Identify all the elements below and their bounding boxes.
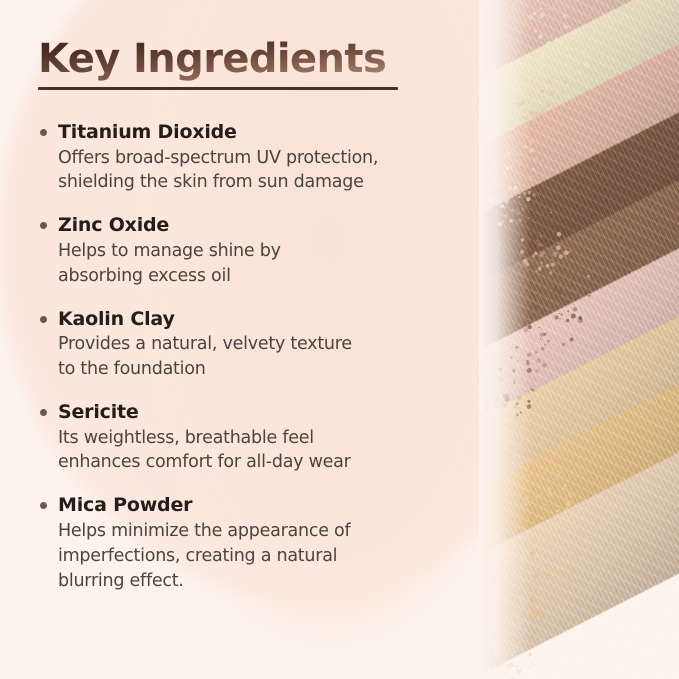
title-underline	[38, 87, 398, 90]
powder-swatch-image	[479, 0, 679, 679]
ingredient-name: Titanium Dioxide	[58, 120, 458, 146]
ingredient-name: Kaolin Clay	[58, 307, 458, 333]
ingredient-description: Its weightless, breathable feel enhances…	[58, 426, 458, 476]
bullet-icon	[40, 129, 47, 136]
bullet-icon	[40, 316, 47, 323]
ingredient-name: Zinc Oxide	[58, 213, 458, 239]
ingredient-item: Kaolin ClayProvides a natural, velvety t…	[38, 307, 458, 382]
content-panel: Key Ingredients Titanium DioxideOffers b…	[0, 0, 470, 679]
page-title: Key Ingredients	[38, 38, 400, 84]
ingredient-list: Titanium DioxideOffers broad-spectrum UV…	[38, 120, 458, 593]
ingredients-infographic: Key Ingredients Titanium DioxideOffers b…	[0, 0, 679, 679]
ingredient-item: Zinc OxideHelps to manage shine by absor…	[38, 213, 458, 288]
powder-left-fade	[479, 0, 531, 679]
ingredient-description: Provides a natural, velvety texture to t…	[58, 332, 458, 382]
ingredient-name: Mica Powder	[58, 493, 458, 519]
ingredient-item: SericiteIts weightless, breathable feel …	[38, 400, 458, 475]
ingredient-item: Mica PowderHelps minimize the appearance…	[38, 493, 458, 593]
ingredient-description: Helps to manage shine by absorbing exces…	[58, 239, 458, 289]
ingredient-description: Helps minimize the appearance of imperfe…	[58, 519, 458, 594]
bullet-icon	[40, 222, 47, 229]
ingredient-description: Offers broad-spectrum UV protection, shi…	[58, 146, 458, 196]
ingredient-name: Sericite	[58, 400, 458, 426]
bullet-icon	[40, 409, 47, 416]
ingredient-item: Titanium DioxideOffers broad-spectrum UV…	[38, 120, 458, 195]
bullet-icon	[40, 502, 47, 509]
title-block: Key Ingredients	[38, 38, 400, 90]
